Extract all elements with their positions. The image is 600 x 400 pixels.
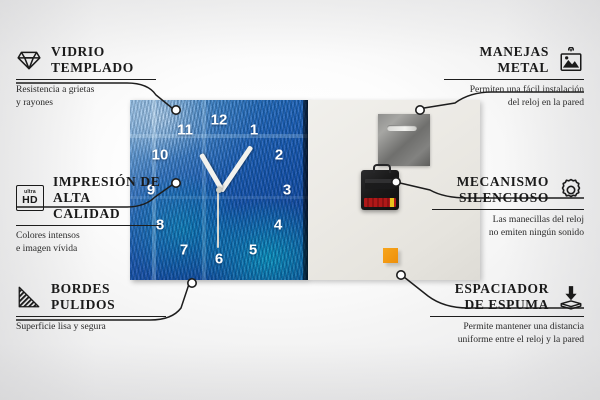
callout-subtitle: Permiten una fácil instalación del reloj… xyxy=(444,84,584,109)
ultra-hd-icon: ultra HD xyxy=(16,185,44,211)
foam-spacer-icon xyxy=(558,284,584,310)
callout-header: MECANISMO SILENCIOSO xyxy=(432,174,584,206)
polished-edge-icon xyxy=(16,284,42,310)
infographic-canvas: 12 1 2 3 4 5 6 7 8 9 10 11 xyxy=(0,0,600,400)
callout-rule xyxy=(430,316,584,318)
movement-red-label xyxy=(364,198,396,207)
callout-title: VIDRIO TEMPLADO xyxy=(51,44,134,76)
clock-numeral-10: 10 xyxy=(152,148,169,163)
callout-title: MECANISMO SILENCIOSO xyxy=(457,174,549,206)
feature-callout-manejas-metal: MANEJAS METAL Permiten una fácil instala… xyxy=(444,44,584,110)
clock-numeral-3: 3 xyxy=(283,183,291,198)
callout-title: MANEJAS METAL xyxy=(480,44,549,76)
callout-subtitle: Permite mantener una distancia uniforme … xyxy=(430,321,584,346)
feature-callout-bordes-pulidos: BORDES PULIDOS Superficie lisa y segura xyxy=(16,281,166,334)
callout-subtitle: Las manecillas del reloj no emiten ningú… xyxy=(432,214,584,239)
feature-callout-vidrio-templado: VIDRIO TEMPLADO Resistencia a grietas y … xyxy=(16,44,156,110)
foam-spacer xyxy=(383,248,398,263)
feature-callout-mecanismo-silencioso: MECANISMO SILENCIOSO Las manecillas del … xyxy=(432,174,584,240)
callout-subtitle: Resistencia a grietas y rayones xyxy=(16,84,156,109)
callout-header: ultra HD IMPRESIÓN DE ALTA CALIDAD xyxy=(16,174,161,222)
callout-title: BORDES PULIDOS xyxy=(51,281,115,313)
feature-callout-espaciador-espuma: ESPACIADOR DE ESPUMA Permite mantener un… xyxy=(430,281,584,347)
callout-rule xyxy=(16,316,166,318)
callout-subtitle: Superficie lisa y segura xyxy=(16,321,166,334)
clock-numeral-4: 4 xyxy=(274,218,282,233)
movement-hanging-tab xyxy=(373,164,391,173)
movement-body-detail xyxy=(365,179,395,189)
callout-rule xyxy=(16,225,161,227)
clock-numeral-6: 6 xyxy=(215,252,223,267)
gear-icon xyxy=(558,177,584,203)
clock-numeral-5: 5 xyxy=(249,243,257,258)
clock-second-hand xyxy=(218,190,220,248)
clock-movement xyxy=(361,170,399,210)
metal-hanger-plate xyxy=(378,114,430,166)
feature-callout-impresion-alta-calidad: ultra HD IMPRESIÓN DE ALTA CALIDAD Color… xyxy=(16,174,161,256)
callout-header: ESPACIADOR DE ESPUMA xyxy=(430,281,584,313)
callout-header: MANEJAS METAL xyxy=(444,44,584,76)
ultra-hd-icon-main-text: HD xyxy=(22,195,38,206)
diamond-icon xyxy=(16,47,42,73)
clock-numeral-7: 7 xyxy=(180,243,188,258)
callout-title: IMPRESIÓN DE ALTA CALIDAD xyxy=(53,174,161,222)
clock-numeral-12: 12 xyxy=(211,113,228,128)
clock-numeral-2: 2 xyxy=(275,148,283,163)
callout-header: BORDES PULIDOS xyxy=(16,281,166,313)
product-photo: 12 1 2 3 4 5 6 7 8 9 10 11 xyxy=(130,100,480,280)
wall-frame-icon xyxy=(558,47,584,73)
callout-subtitle: Colores intensos e imagen vívida xyxy=(16,230,161,255)
callout-header: VIDRIO TEMPLADO xyxy=(16,44,156,76)
clock-numeral-11: 11 xyxy=(177,123,193,138)
clock-center-cap xyxy=(216,187,222,193)
hanger-keyhole-slot xyxy=(387,125,417,131)
callout-rule xyxy=(16,79,156,81)
callout-rule xyxy=(432,209,584,211)
callout-title: ESPACIADOR DE ESPUMA xyxy=(455,281,549,313)
clock-numeral-1: 1 xyxy=(250,123,258,138)
callout-rule xyxy=(444,79,584,81)
